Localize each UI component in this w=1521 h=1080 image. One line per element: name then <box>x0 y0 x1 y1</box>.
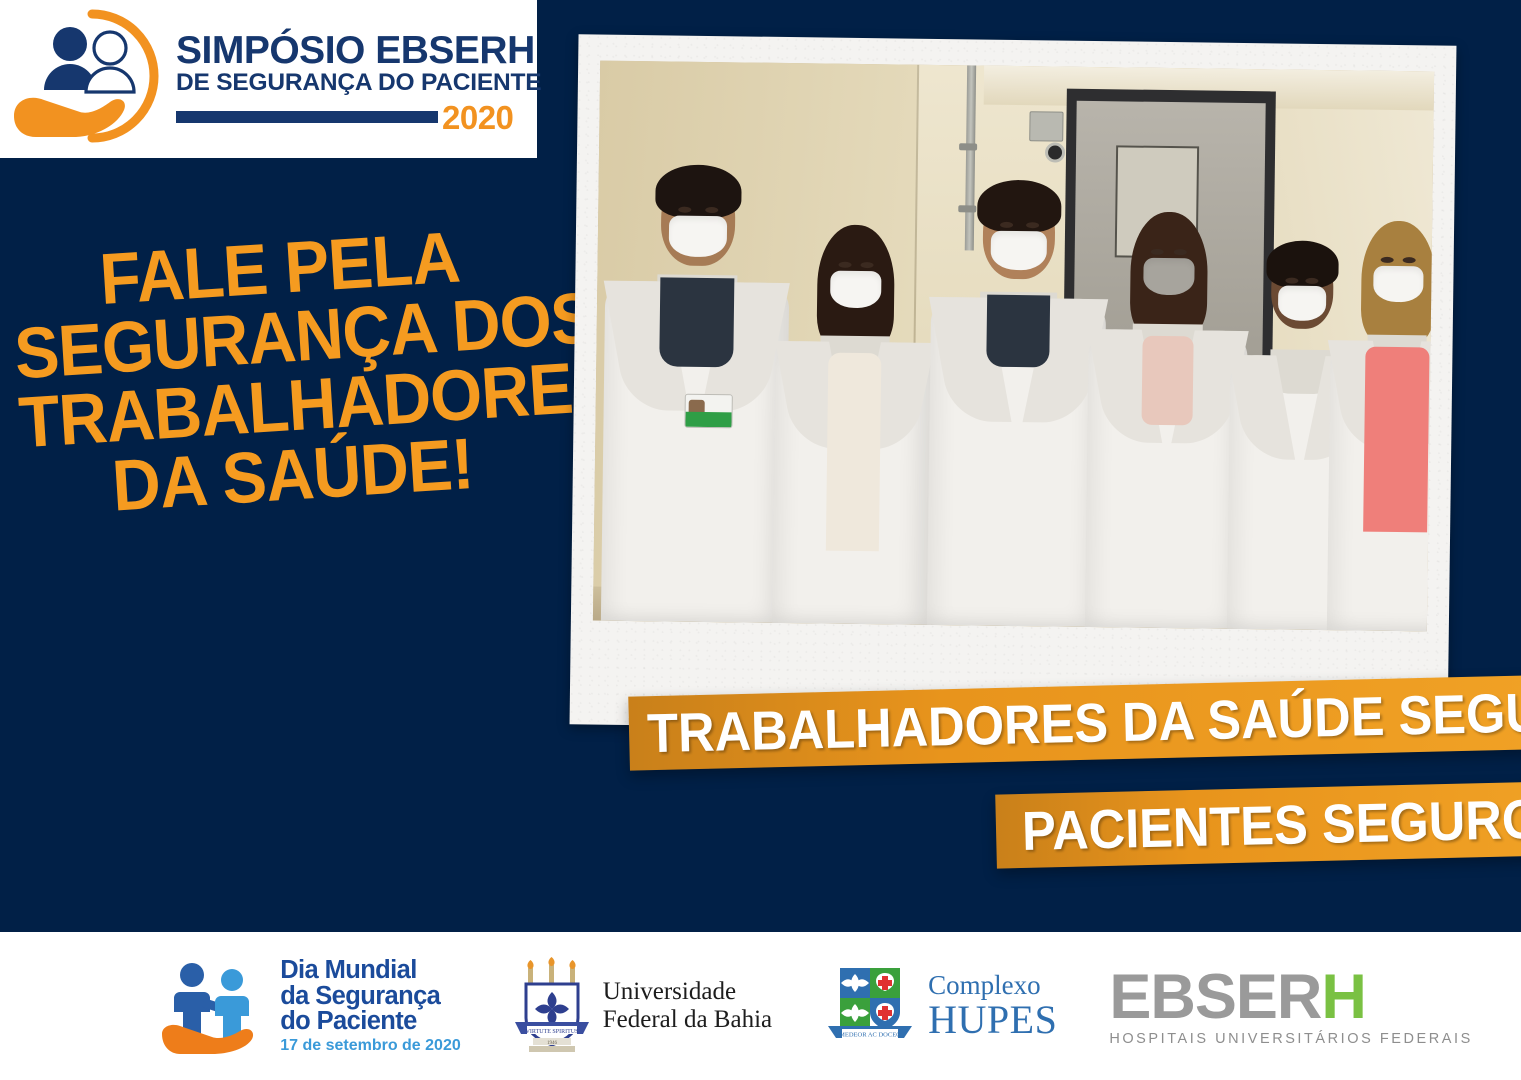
ufba-line1: Universidade <box>603 978 772 1007</box>
person-1-coat <box>601 280 789 623</box>
photo-scene <box>593 61 1434 632</box>
ebserh-wordmark-base: EBSER <box>1109 962 1321 1032</box>
polaroid-frame <box>570 34 1457 735</box>
svg-text:MEDEOR AC DOCEO: MEDEOR AC DOCEO <box>839 1032 901 1039</box>
poster-canvas: SIMPÓSIO EBSERH DE SEGURANÇA DO PACIENTE… <box>0 0 1521 1080</box>
person-1-mask <box>669 216 727 257</box>
person-1-eyes <box>676 207 720 215</box>
ufba-wordmark: Universidade Federal da Bahia <box>603 978 772 1035</box>
event-year: 2020 <box>442 101 513 134</box>
person-2-head <box>822 232 889 317</box>
dia-mundial-line1: Dia Mundial <box>280 958 461 984</box>
person-4-mask <box>1143 258 1195 296</box>
person-2-eyes <box>836 262 876 270</box>
event-title-line2: DE SEGURANÇA DO PACIENTE <box>176 70 541 96</box>
footer-logo-ebserh: EBSERH HOSPITAIS UNIVERSITÁRIOS FEDERAIS <box>1109 966 1472 1047</box>
ebserh-wordmark-accent: H <box>1321 962 1366 1032</box>
person-1 <box>601 173 790 623</box>
person-2-coat <box>772 341 934 625</box>
person-3-head <box>983 189 1056 280</box>
person-3-mask <box>991 230 1048 270</box>
person-4-head <box>1135 219 1202 304</box>
security-camera-icon <box>1045 142 1065 162</box>
dia-mundial-date: 17 de setembro de 2020 <box>280 1038 461 1054</box>
person-5-head <box>1270 249 1333 330</box>
footer-logo-ufba: VIRTUTE SPIRITUS 1946 Universidade Feder… <box>513 956 772 1056</box>
junction-box <box>1029 111 1063 141</box>
two-people-on-hand-icon <box>158 958 268 1054</box>
person-1-id-badge <box>684 394 732 429</box>
hupes-line1: Complexo <box>928 971 1057 999</box>
svg-text:1946: 1946 <box>547 1041 558 1046</box>
person-6 <box>1327 227 1434 631</box>
banner-text-2: PACIENTES SEGUROS <box>1021 786 1521 863</box>
dia-mundial-line2: da Segurança <box>280 984 461 1010</box>
person-6-coat <box>1327 340 1434 632</box>
ufba-line2: Federal da Bahia <box>603 1006 772 1035</box>
event-logo-rule: 2020 <box>176 101 541 134</box>
person-3 <box>926 188 1107 627</box>
person-5-eyes <box>1283 278 1320 285</box>
ufba-crest-icon: VIRTUTE SPIRITUS 1946 <box>513 956 591 1056</box>
dia-mundial-line3: do Paciente <box>280 1009 461 1035</box>
person-3-eyes <box>998 221 1041 229</box>
person-5-mask <box>1277 285 1326 321</box>
footer-logo-bar: Dia Mundial da Segurança do Paciente 17 … <box>0 932 1521 1080</box>
svg-text:VIRTUTE SPIRITUS: VIRTUTE SPIRITUS <box>525 1029 578 1035</box>
team-photo <box>593 61 1434 632</box>
event-logo-wordmark: SIMPÓSIO EBSERH DE SEGURANÇA DO PACIENTE… <box>176 24 541 134</box>
person-3-coat <box>926 297 1105 627</box>
hupes-line2: HUPES <box>928 999 1057 1041</box>
event-title-line1: SIMPÓSIO EBSERH <box>176 32 541 70</box>
person-6-mask <box>1373 265 1423 302</box>
footer-logo-dia-mundial: Dia Mundial da Segurança do Paciente 17 … <box>158 958 461 1054</box>
person-4-eyes <box>1149 249 1189 257</box>
person-6-eyes <box>1379 257 1417 265</box>
headline: FALE PELA SEGURANÇA DOS TRABALHADORES DA… <box>0 217 584 529</box>
hand-holding-two-people-icon <box>6 4 166 154</box>
person-4-coat <box>1085 329 1247 629</box>
rule-bar <box>176 111 438 123</box>
pipe-bracket-upper <box>959 144 977 151</box>
footer-logo-hupes: MEDEOR AC DOCEO Complexo HUPES <box>824 960 1057 1052</box>
hupes-wordmark: Complexo HUPES <box>928 971 1057 1041</box>
banner-strip-2: PACIENTES SEGUROS <box>995 781 1521 868</box>
person-6-head <box>1366 227 1431 310</box>
event-logo-card: SIMPÓSIO EBSERH DE SEGURANÇA DO PACIENTE… <box>0 0 537 158</box>
ebserh-tagline: HOSPITAIS UNIVERSITÁRIOS FEDERAIS <box>1109 1032 1472 1047</box>
person-2 <box>772 231 936 625</box>
person-2-mask <box>830 270 882 308</box>
ebserh-wordmark: EBSERH <box>1109 966 1472 1029</box>
dia-mundial-wordmark: Dia Mundial da Segurança do Paciente 17 … <box>280 958 461 1054</box>
person-4 <box>1085 218 1249 629</box>
hupes-shield-icon: MEDEOR AC DOCEO <box>824 960 916 1052</box>
person-1-head <box>661 173 736 266</box>
